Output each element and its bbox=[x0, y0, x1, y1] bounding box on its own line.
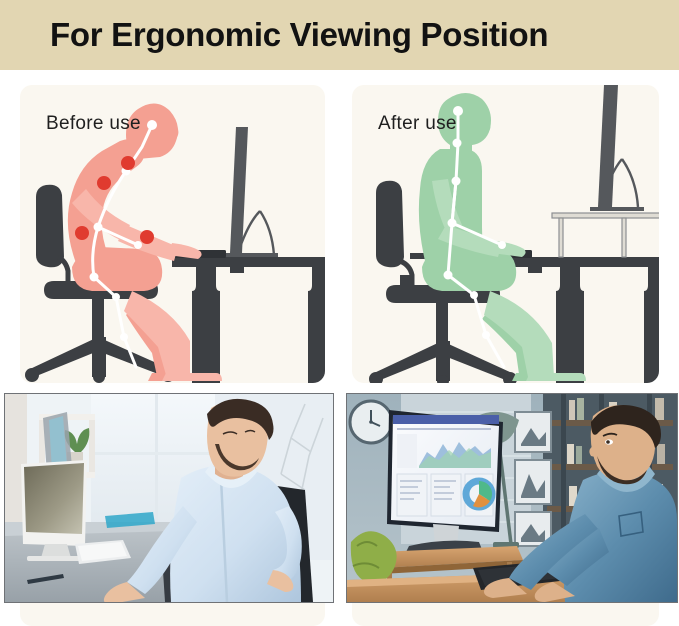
bottom-panel-left bbox=[20, 601, 325, 626]
wall-clock-icon bbox=[350, 401, 392, 443]
photo-before-scene bbox=[5, 394, 333, 602]
desk-leg-far bbox=[308, 267, 325, 383]
monitor-icon bbox=[590, 85, 644, 211]
caption-before: Before use bbox=[46, 113, 141, 135]
desk-lip bbox=[528, 267, 542, 273]
photo-after-use bbox=[346, 393, 678, 603]
desk-leg bbox=[556, 267, 584, 383]
monitor-icon bbox=[226, 127, 278, 257]
illustration-card-after: After use bbox=[352, 85, 659, 383]
monitor-riser-icon bbox=[552, 213, 659, 257]
desk-leg bbox=[192, 267, 220, 383]
photo-before-use bbox=[4, 393, 334, 603]
desk-leg-far bbox=[644, 267, 659, 383]
caption-after: After use bbox=[378, 113, 457, 135]
bottom-panel-right bbox=[352, 601, 659, 626]
illustration-card-before: Before use bbox=[20, 85, 325, 383]
framed-pictures bbox=[515, 412, 551, 546]
desk-lip bbox=[230, 267, 244, 273]
page-title: For Ergonomic Viewing Position bbox=[50, 16, 548, 54]
photo-after-scene bbox=[347, 394, 677, 602]
header-banner: For Ergonomic Viewing Position bbox=[0, 0, 679, 70]
